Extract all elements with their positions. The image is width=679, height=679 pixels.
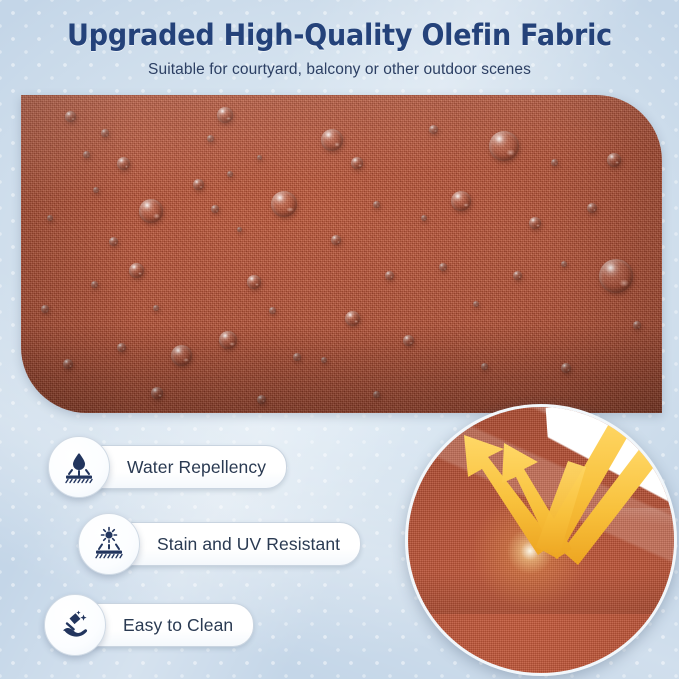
uv-reflection-inset bbox=[405, 404, 677, 676]
page-subtitle: Suitable for courtyard, balcony or other… bbox=[0, 52, 679, 79]
feature-stain-uv-resistant[interactable]: Stain and UV Resistant bbox=[78, 513, 361, 575]
easy-to-clean-icon bbox=[44, 594, 106, 656]
water-repellency-icon bbox=[48, 436, 110, 498]
feature-label-pill: Easy to Clean bbox=[90, 603, 254, 647]
fabric-hero-image bbox=[21, 95, 662, 413]
feature-water-repellency[interactable]: Water Repellency bbox=[48, 436, 287, 498]
feature-label: Stain and UV Resistant bbox=[157, 534, 340, 555]
feature-easy-to-clean[interactable]: Easy to Clean bbox=[44, 594, 254, 656]
uv-arrows-svg bbox=[408, 407, 674, 673]
feature-label-pill: Water Repellency bbox=[94, 445, 287, 489]
header: Upgraded High-Quality Olefin Fabric Suit… bbox=[0, 0, 679, 79]
fabric-shading-overlay bbox=[21, 95, 662, 413]
stain-uv-resistant-icon bbox=[78, 513, 140, 575]
feature-label: Water Repellency bbox=[127, 457, 266, 478]
feature-label-pill: Stain and UV Resistant bbox=[124, 522, 361, 566]
infographic-canvas: Upgraded High-Quality Olefin Fabric Suit… bbox=[0, 0, 679, 679]
feature-label: Easy to Clean bbox=[123, 615, 233, 636]
page-title: Upgraded High-Quality Olefin Fabric bbox=[24, 0, 655, 52]
